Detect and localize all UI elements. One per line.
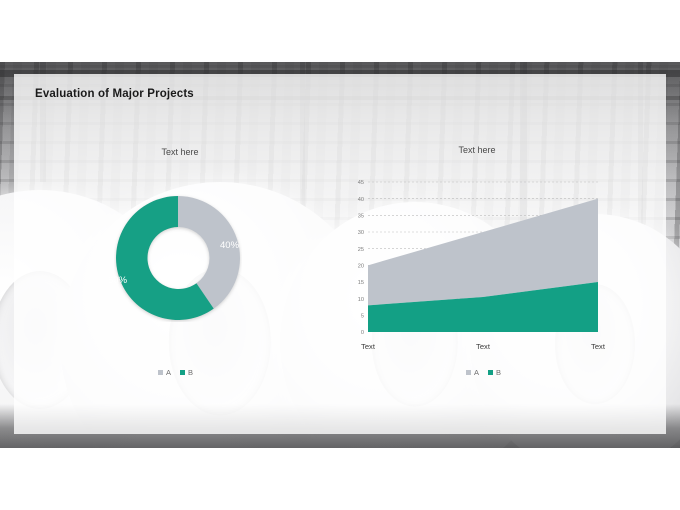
y-tick-label: 20 bbox=[358, 263, 364, 269]
y-tick-label: 15 bbox=[358, 280, 364, 286]
factory-floor bbox=[0, 404, 680, 448]
legend-item-b[interactable]: B bbox=[180, 368, 193, 377]
donut-chart-title: Text here bbox=[118, 147, 242, 157]
donut-chart-svg bbox=[114, 194, 242, 322]
y-tick-label: 40 bbox=[358, 197, 364, 203]
y-tick-label: 45 bbox=[358, 180, 364, 186]
legend-swatch-b-icon bbox=[180, 370, 185, 375]
donut-chart-legend: A B bbox=[158, 368, 193, 377]
x-tick-label: Text bbox=[361, 342, 376, 351]
legend-label-a: A bbox=[166, 368, 171, 377]
legend-item-b[interactable]: B bbox=[488, 368, 501, 377]
legend-swatch-b-icon bbox=[488, 370, 493, 375]
legend-label-a: A bbox=[474, 368, 479, 377]
area-chart-svg: 45 40 35 30 25 20 15 10 5 0 Text Text Te… bbox=[340, 176, 620, 356]
donut-value-label-a: 40% bbox=[220, 240, 239, 251]
y-tick-label: 30 bbox=[358, 230, 364, 236]
y-axis-ticks: 45 40 35 30 25 20 15 10 5 0 bbox=[358, 180, 364, 336]
area-chart-title: Text here bbox=[415, 145, 539, 155]
x-axis-ticks: Text Text Text bbox=[361, 342, 606, 351]
legend-swatch-a-icon bbox=[158, 370, 163, 375]
legend-item-a[interactable]: A bbox=[158, 368, 171, 377]
donut-value-label-b: 60% bbox=[108, 275, 127, 286]
x-tick-label: Text bbox=[591, 342, 606, 351]
support-column bbox=[40, 62, 46, 182]
donut-chart bbox=[114, 194, 242, 322]
y-tick-label: 5 bbox=[361, 313, 364, 319]
area-chart: 45 40 35 30 25 20 15 10 5 0 Text Text Te… bbox=[340, 176, 620, 356]
y-tick-label: 35 bbox=[358, 213, 364, 219]
area-chart-legend: A B bbox=[466, 368, 501, 377]
legend-swatch-a-icon bbox=[466, 370, 471, 375]
y-tick-label: 25 bbox=[358, 247, 364, 253]
legend-label-b: B bbox=[188, 368, 193, 377]
x-tick-label: Text bbox=[476, 342, 491, 351]
legend-item-a[interactable]: A bbox=[466, 368, 479, 377]
page-title: Evaluation of Major Projects bbox=[35, 88, 194, 100]
y-tick-label: 0 bbox=[361, 330, 364, 336]
y-tick-label: 10 bbox=[358, 297, 364, 303]
slide: Evaluation of Major Projects Text here 6… bbox=[0, 0, 680, 510]
legend-label-b: B bbox=[496, 368, 501, 377]
ceiling-beam bbox=[0, 70, 680, 77]
support-column bbox=[300, 62, 305, 212]
